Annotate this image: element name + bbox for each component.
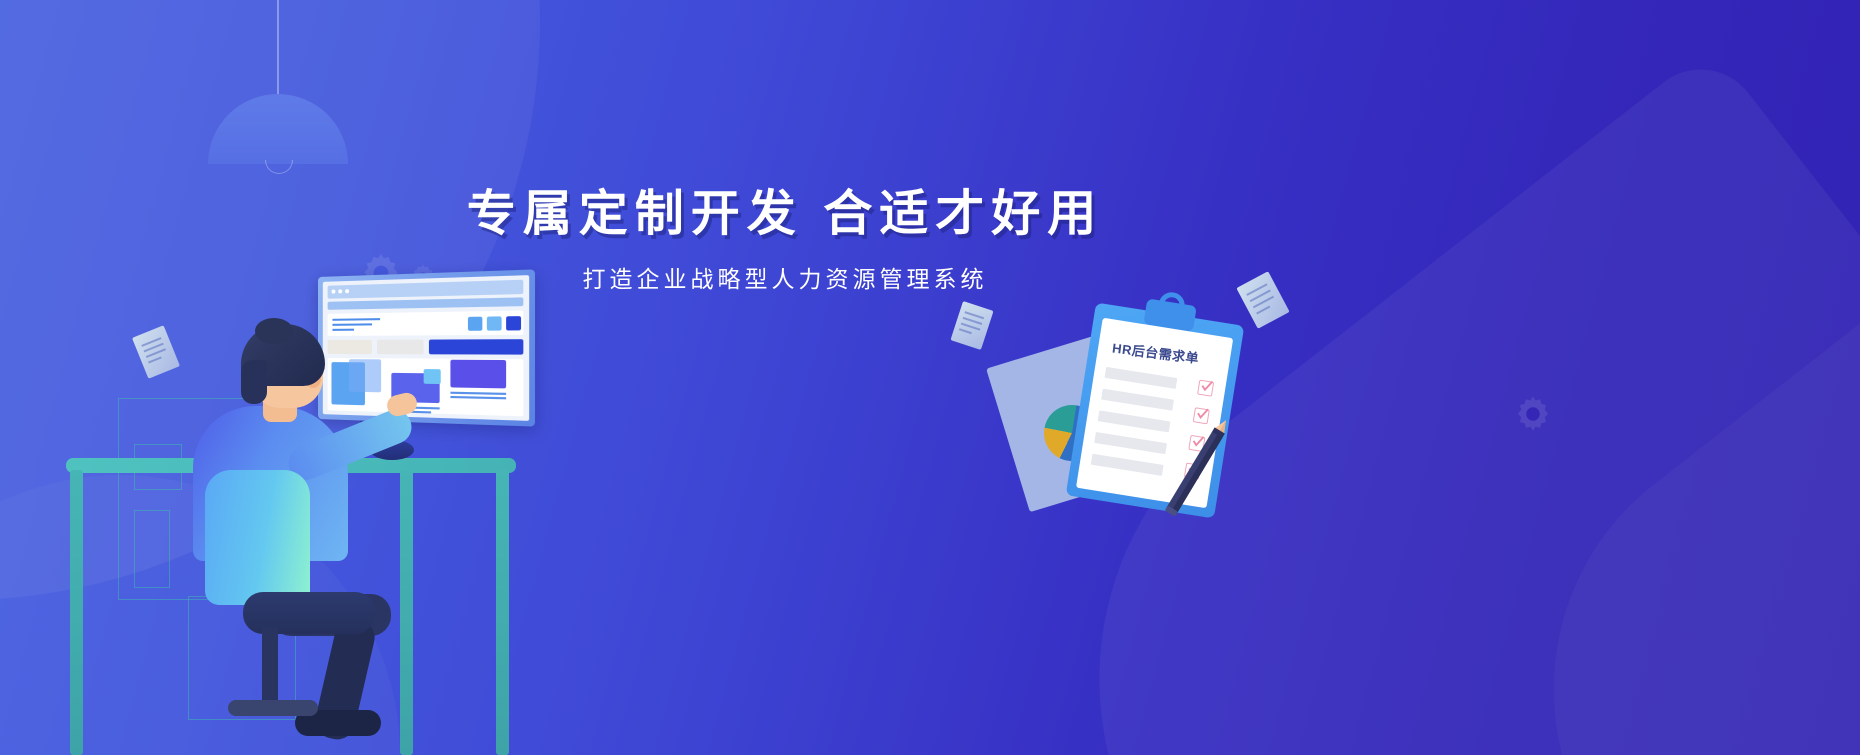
lamp-bulb xyxy=(265,160,293,174)
clipboard-paper: HR后台需求单 xyxy=(1076,318,1233,509)
clipboard-line xyxy=(1101,389,1174,411)
page-subtitle: 打造企业战略型人力资源管理系统 xyxy=(0,260,1570,294)
clipboard-line xyxy=(1105,367,1178,389)
floating-document-center xyxy=(950,301,993,350)
pendant-lamp-icon xyxy=(208,0,348,175)
chair-post xyxy=(262,628,278,706)
person-hair-bun xyxy=(255,318,293,344)
checkmark-icon xyxy=(1197,380,1214,397)
gear-icon-right xyxy=(1512,393,1554,435)
chair-base xyxy=(228,700,318,716)
desk-leg-right xyxy=(496,470,509,755)
clipboard-line xyxy=(1098,410,1171,432)
person-hair-side xyxy=(241,360,267,404)
page-title: 专属定制开发 合适才好用 xyxy=(0,186,1570,242)
clipboard-illustration-group: HR后台需求单 xyxy=(1000,285,1300,525)
clipboard: HR后台需求单 xyxy=(1066,302,1245,518)
clipboard-title: HR后台需求单 xyxy=(1111,338,1221,370)
mock-search-bar xyxy=(328,297,524,309)
hero-banner: HR后台需求单 xyxy=(0,0,1860,755)
checkmark-icon xyxy=(1193,407,1210,424)
desk-leg-left xyxy=(70,470,83,755)
clipboard-line xyxy=(1094,432,1167,454)
chair-backrest xyxy=(205,470,310,605)
lamp-shade xyxy=(208,94,348,164)
banner-text-block: 专属定制开发 合适才好用 打造企业战略型人力资源管理系统 xyxy=(0,186,1570,294)
lamp-cord xyxy=(277,0,279,96)
clipboard-line xyxy=(1091,454,1164,476)
